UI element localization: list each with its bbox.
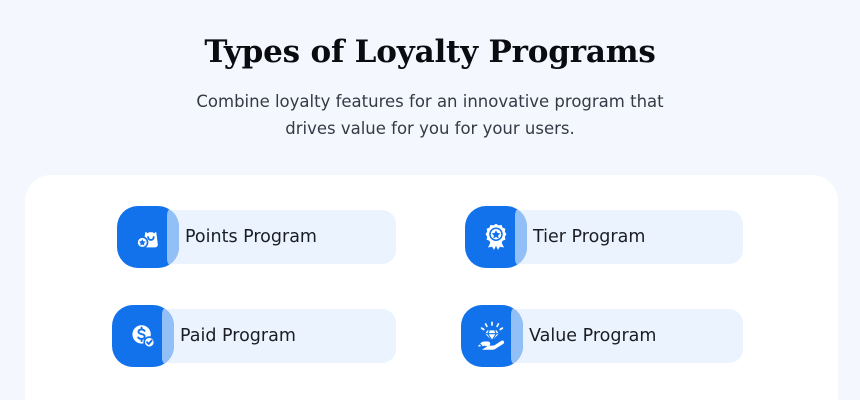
program-card-label: Tier Program <box>533 206 645 268</box>
program-card-label: Value Program <box>529 305 656 367</box>
page-header: Types of Loyalty Programs Combine loyalt… <box>0 0 860 142</box>
program-card-label: Points Program <box>185 206 317 268</box>
program-card-label: Paid Program <box>180 305 296 367</box>
loyalty-programs-page: Types of Loyalty Programs Combine loyalt… <box>0 0 860 400</box>
tile-sheen <box>162 305 174 367</box>
award-rosette-star-icon <box>465 206 527 268</box>
hand-holding-diamond-icon <box>461 305 523 367</box>
page-title: Types of Loyalty Programs <box>0 32 860 72</box>
program-card-value[interactable]: Value Program <box>461 305 743 367</box>
shopping-bag-star-icon <box>117 206 179 268</box>
page-subtitle: Combine loyalty features for an innovati… <box>170 72 690 142</box>
program-card-tier[interactable]: Tier Program <box>465 206 743 268</box>
tile-sheen <box>515 206 527 268</box>
program-card-paid[interactable]: Paid Program <box>112 305 396 367</box>
tile-sheen <box>511 305 523 367</box>
program-card-points[interactable]: Points Program <box>117 206 396 268</box>
dollar-coin-check-icon <box>112 305 174 367</box>
tile-sheen <box>167 206 179 268</box>
